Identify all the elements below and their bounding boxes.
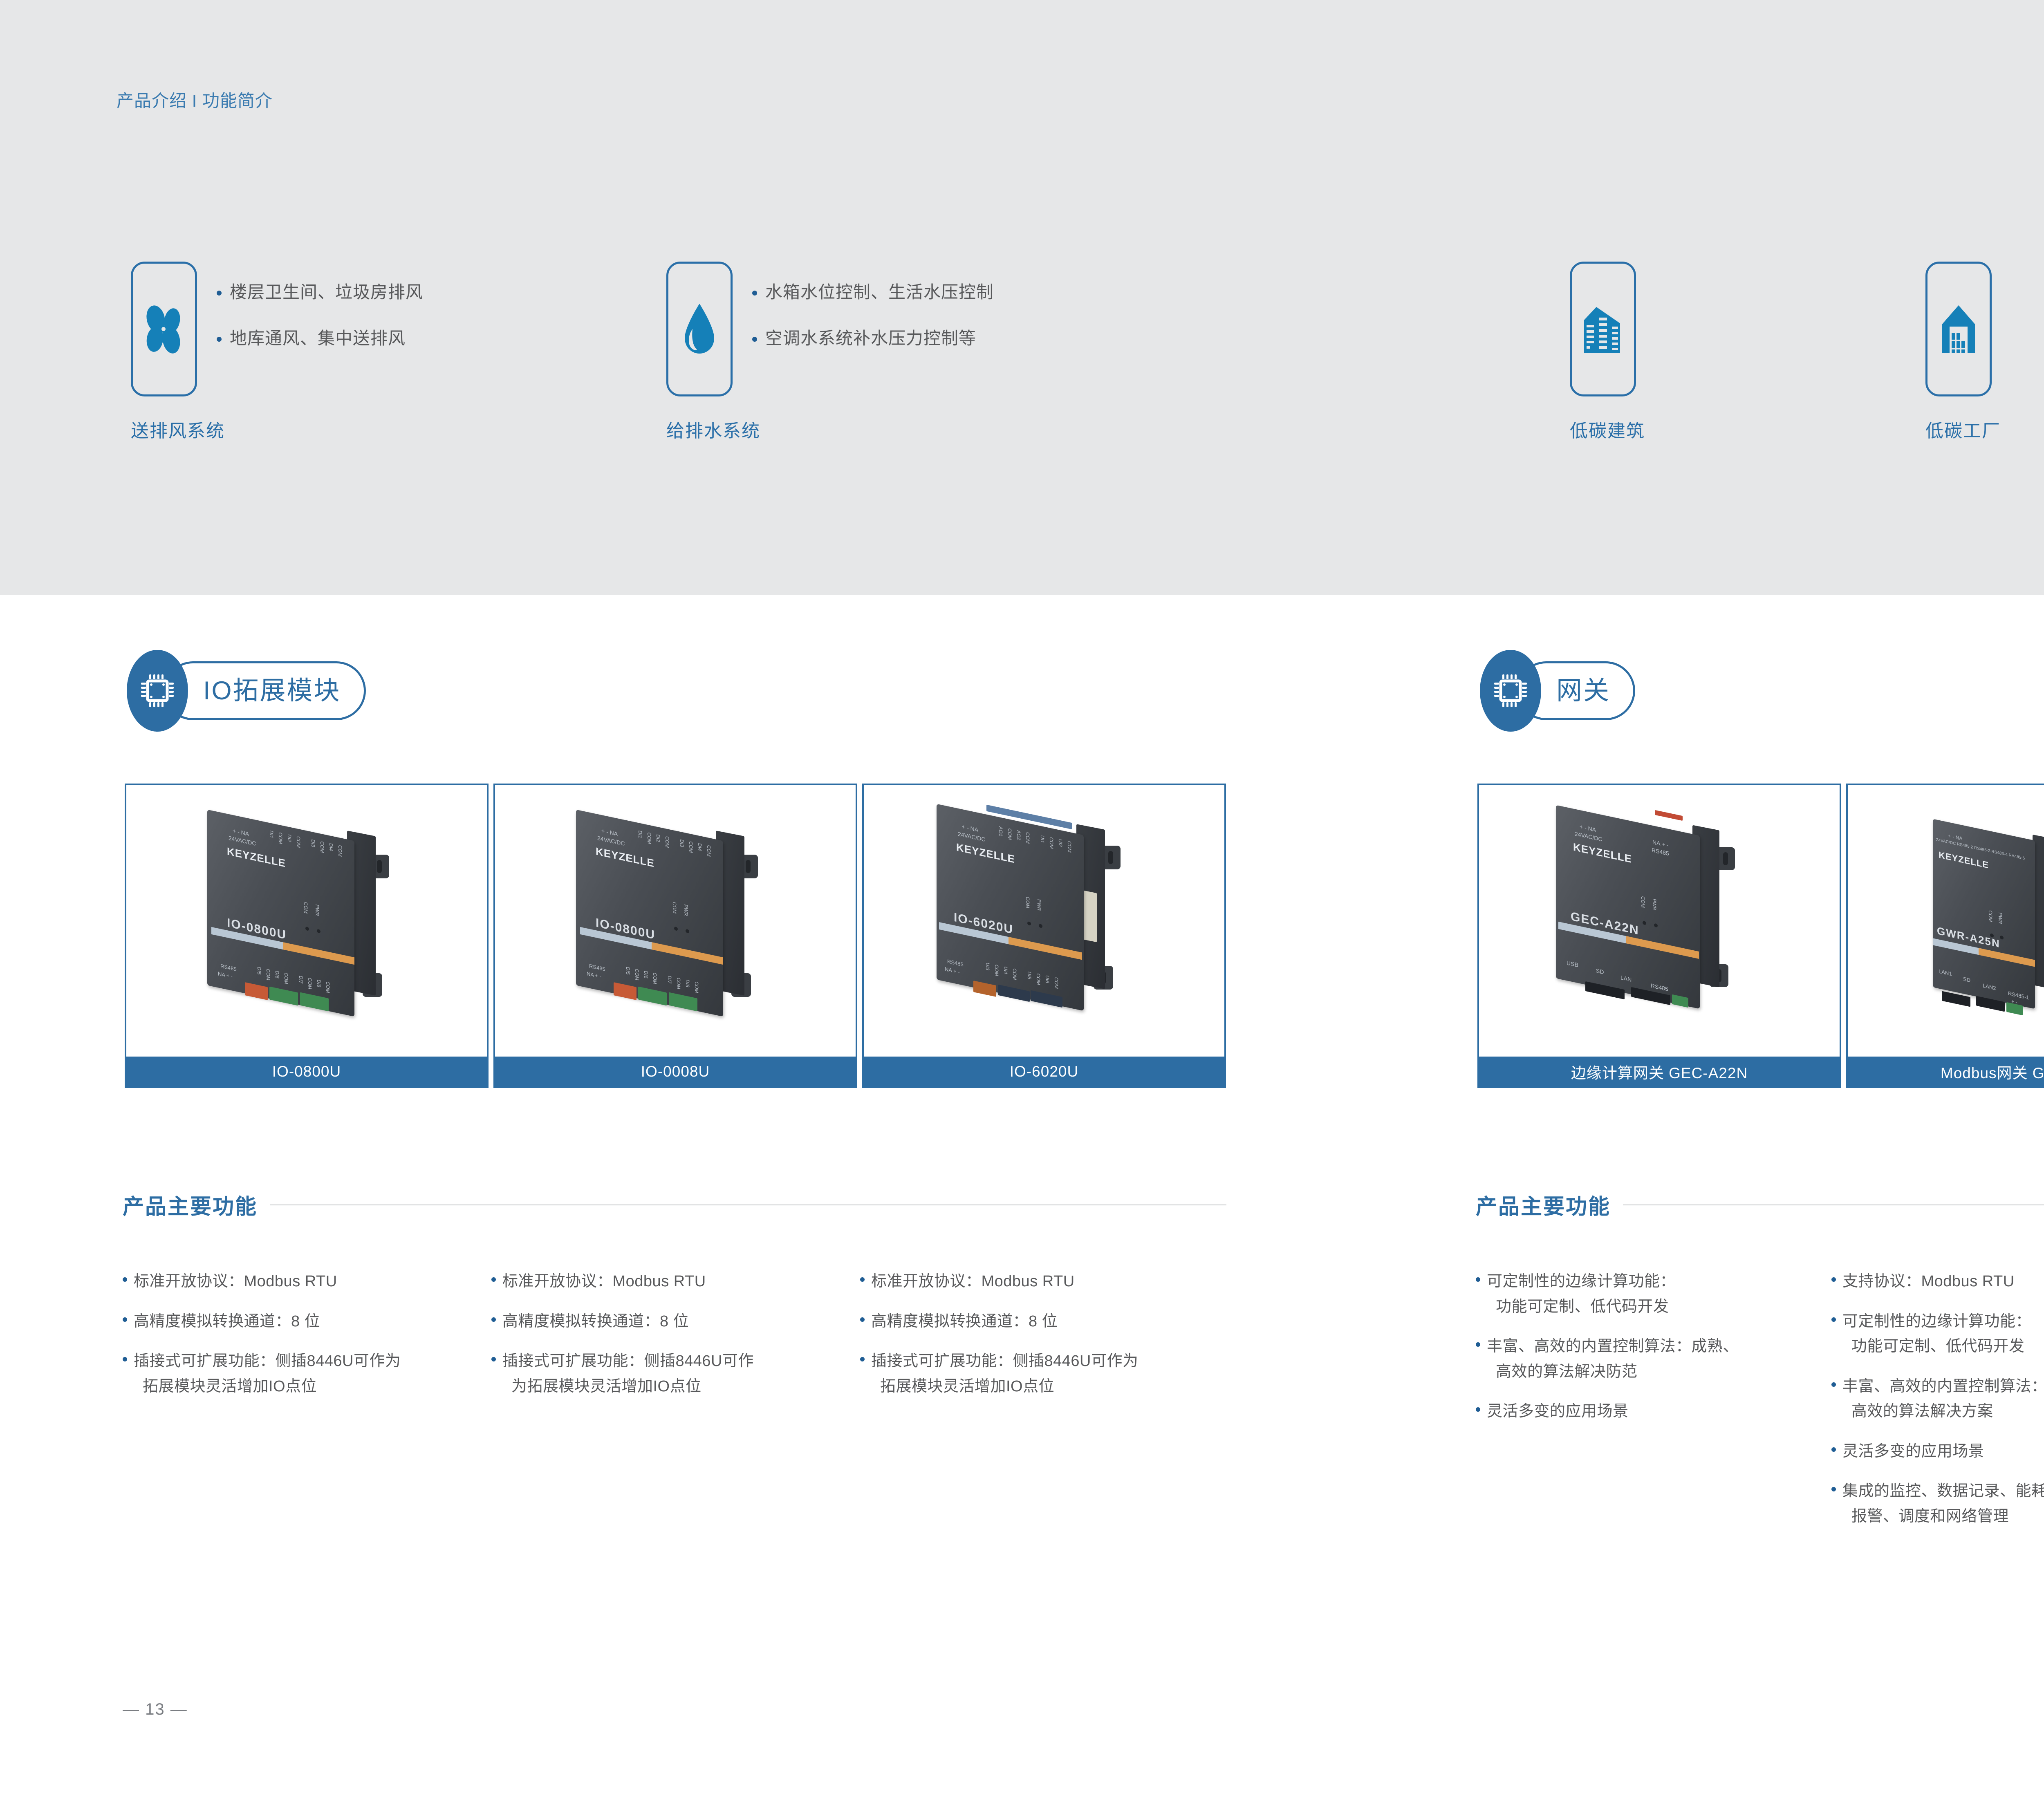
led-indicator	[1643, 921, 1646, 925]
scenario-water-supply: 水箱水位控制、生活水压控制 空调水系统补水压力控制等 给排水系统	[666, 262, 733, 396]
features-column: 支持协议：Modbus RTU 可定制性的边缘计算功能：功能可定制、低代码开发 …	[1831, 1269, 2044, 1544]
list-item: 楼层卫生间、垃圾房排风	[217, 281, 511, 304]
product-label: IO-6020U	[864, 1057, 1224, 1086]
port-label: SD	[1963, 976, 1970, 983]
terminal-label: NA + -	[587, 970, 602, 980]
terminal-label: AO2	[1016, 830, 1022, 841]
bullet-text: 丰富、高效的内置控制算法：成熟、高效的算法解决防范	[1487, 1334, 1739, 1384]
terminal-label: COM	[283, 972, 289, 985]
terminal-label: DI6	[274, 970, 280, 979]
section-title: 网关	[1556, 678, 1610, 704]
list-item: 集成的监控、数据记录、能耗计量、报警、调度和网络管理	[1831, 1479, 2044, 1529]
list-item: 地库通风、集中送排风	[217, 327, 511, 350]
top-terminal-strip	[1655, 810, 1683, 821]
product-image: + - NA 24VAC/DC AO1 COM AO2 COM UI1 COM …	[864, 785, 1224, 1057]
device-photo: + - NA 24VAC/DC DI1 COM DI2 COM DI3 COM …	[565, 814, 781, 1026]
device-front: + - NA 24VAC/DC DI1 COM DI2 COM DI3 COM …	[207, 810, 354, 1017]
bullet-text: 标准开放协议：Modbus RTU	[871, 1269, 1075, 1294]
list-item: 高精度模拟转换通道：8 位	[491, 1309, 851, 1335]
terminal-label: UI6	[1044, 975, 1050, 984]
device-front: + - NA 24VAC/DC RS485-2 RS485-3 RS485-4 …	[1933, 819, 2035, 1009]
port-label: SD	[1596, 967, 1604, 975]
terminal-label: COM	[1035, 973, 1041, 985]
device-front: + - NA 24VAC/DC NA + - RS485 KEYZELLE GE…	[1556, 805, 1700, 1009]
terminal-label: COM	[337, 844, 343, 857]
list-item: 丰富、高效的内置控制算法：成熟、高效的算法解决防范	[1476, 1334, 1827, 1384]
device-photo: + - NA 24VAC/DC NA + - RS485 KEYZELLE GE…	[1544, 810, 1773, 1030]
list-item: 可定制性的边缘计算功能：功能可定制、低代码开发	[1476, 1269, 1827, 1319]
list-item: 支持协议：Modbus RTU	[1831, 1269, 2044, 1294]
terminal-label: COM	[1025, 832, 1031, 844]
bullet-text: 高精度模拟转换通道：8 位	[502, 1309, 689, 1335]
bullet-dot-icon	[123, 1317, 127, 1322]
list-item: 灵活多变的应用场景	[1831, 1439, 2044, 1464]
brand-logo: KEYZELLE	[596, 845, 654, 870]
scenario-ventilation: 楼层卫生间、垃圾房排风 地库通风、集中送排风 送排风系统	[131, 262, 197, 396]
led-label: COM	[1988, 910, 1993, 923]
features-column: 可定制性的边缘计算功能：功能可定制、低代码开发 丰富、高效的内置控制算法：成熟、…	[1476, 1269, 1827, 1439]
bullet-dot-icon	[1831, 1382, 1836, 1387]
terminal-label: COM	[994, 964, 1000, 976]
product-card[interactable]: + - NA 24VAC/DC DI1 COM DI2 COM DI3 COM …	[125, 784, 489, 1088]
list-item: 标准开放协议：Modbus RTU	[123, 1269, 482, 1294]
accent-stripe-orange	[652, 942, 723, 965]
office-buildings-icon	[1581, 304, 1625, 354]
led-indicator	[674, 927, 678, 931]
features-heading-gateway: 产品主要功能	[1476, 1189, 2044, 1220]
product-image: + - NA 24VAC/DC NA + - RS485 KEYZELLE GE…	[1479, 785, 1840, 1057]
scenario-icon-box	[131, 262, 197, 396]
port-label: LAN1	[1939, 968, 1952, 977]
bullet-text: 插接式可扩展功能：侧插8446U可作为拓展模块灵活增加IO点位	[871, 1349, 1138, 1399]
product-label: IO-0800U	[126, 1057, 487, 1086]
terminal-label: DI3	[679, 839, 685, 848]
led-label: PWR	[1036, 899, 1042, 911]
scenario-icon-box	[1570, 262, 1636, 396]
bullet-dot-icon	[491, 1357, 496, 1361]
features-title: 产品主要功能	[123, 1189, 258, 1220]
bullet-dot-icon	[1831, 1277, 1836, 1282]
accent-stripe-orange	[283, 942, 354, 965]
led-indicator	[1027, 921, 1031, 926]
bullet-text: 标准开放协议：Modbus RTU	[134, 1269, 337, 1294]
terminal-label: 24VAC/DC	[597, 835, 625, 847]
terminal-label: COM	[646, 832, 652, 844]
terminal-label: COM	[319, 841, 325, 853]
terminal-label: DI8	[685, 979, 690, 988]
bullet-text: 空调水系统补水压力控制等	[765, 327, 976, 350]
terminal-label: COM	[634, 968, 640, 981]
terminal-label: COM	[664, 836, 670, 849]
bullet-dot-icon	[752, 337, 757, 342]
bullet-dot-icon	[860, 1317, 865, 1322]
badge-ellipse	[127, 650, 188, 732]
terminal-label: COM	[652, 972, 658, 985]
heading-rule	[270, 1205, 1226, 1205]
terminal-label: COM	[1012, 968, 1018, 981]
scenario-caption: 低碳工厂	[1925, 416, 1992, 442]
scenario-bullet-list: 水箱水位控制、生活水压控制 空调水系统补水压力控制等	[752, 281, 1047, 373]
bullet-text: 高精度模拟转换通道：8 位	[134, 1309, 320, 1335]
features-column: 标准开放协议：Modbus RTU 高精度模拟转换通道：8 位 插接式可扩展功能…	[123, 1269, 482, 1414]
bullet-text: 地库通风、集中送排风	[230, 327, 406, 350]
terminal-label: COM	[296, 836, 301, 849]
led-label: PWR	[314, 904, 320, 916]
list-item: 插接式可扩展功能：侧插8446U可作为拓展模块灵活增加IO点位	[123, 1349, 482, 1399]
list-item: 水箱水位控制、生活水压控制	[752, 281, 1047, 304]
led-label: COM	[303, 901, 309, 914]
accent-stripe-orange	[1626, 936, 1699, 959]
scenario-caption: 低碳建筑	[1570, 416, 1636, 442]
terminal-label: DI4	[328, 843, 334, 852]
bullet-dot-icon	[860, 1357, 865, 1361]
bullet-dot-icon	[491, 1277, 496, 1282]
terminal-label: DI7	[667, 975, 672, 984]
badge-ellipse	[1480, 650, 1541, 732]
bullet-dot-icon	[1831, 1447, 1836, 1452]
bullet-dot-icon	[1831, 1317, 1836, 1322]
terminal-label: COM	[688, 841, 694, 853]
scenario-caption: 送排风系统	[131, 416, 225, 442]
device-photo: + - NA 24VAC/DC AO1 COM AO2 COM UI1 COM …	[925, 810, 1154, 1030]
bullet-text: 插接式可扩展功能：侧插8446U可作为拓展模块灵活增加IO点位	[134, 1349, 401, 1399]
terminal-label: DI7	[298, 975, 304, 984]
bullet-dot-icon	[123, 1277, 127, 1282]
brand-logo: KEYZELLE	[1573, 841, 1632, 866]
product-label: IO-0008U	[495, 1057, 856, 1086]
bullet-text: 灵活多变的应用场景	[1487, 1399, 1629, 1424]
running-header-left: 产品介绍 I 功能简介	[117, 87, 273, 112]
list-item: 灵活多变的应用场景	[1476, 1399, 1827, 1424]
list-item: 高精度模拟转换通道：8 位	[860, 1309, 1228, 1335]
terminal-label: AO1	[998, 826, 1004, 837]
terminal-label: COM	[676, 977, 681, 990]
bullet-dot-icon	[860, 1277, 865, 1282]
product-image: + - NA 24VAC/DC RS485-2 RS485-3 RS485-4 …	[1848, 785, 2044, 1057]
product-card[interactable]: + - NA 24VAC/DC RS485-2 RS485-3 RS485-4 …	[1846, 784, 2044, 1088]
bullet-text: 水箱水位控制、生活水压控制	[765, 281, 994, 304]
water-drop-icon	[679, 301, 720, 357]
terminal-label: COM	[307, 977, 313, 990]
terminal-label: DI2	[287, 834, 292, 843]
terminal-label: NA + -	[945, 966, 960, 975]
badge-pill: IO拓展模块	[164, 661, 366, 720]
product-card[interactable]: + - NA 24VAC/DC AO1 COM AO2 COM UI1 COM …	[862, 784, 1226, 1088]
terminal-label: DI5	[256, 966, 262, 975]
terminal-label: 24VAC/DC	[1575, 830, 1602, 842]
bullet-text: 集成的监控、数据记录、能耗计量、报警、调度和网络管理	[1842, 1479, 2044, 1529]
features-title: 产品主要功能	[1476, 1189, 1611, 1220]
list-item: 标准开放协议：Modbus RTU	[860, 1269, 1228, 1294]
led-label: COM	[672, 901, 677, 914]
product-card[interactable]: + - NA 24VAC/DC NA + - RS485 KEYZELLE GE…	[1477, 784, 1841, 1088]
port-label: RS485	[1651, 982, 1668, 992]
product-image: + - NA 24VAC/DC DI1 COM DI2 COM DI3 COM …	[126, 785, 487, 1057]
brand-logo: KEYZELLE	[227, 845, 286, 870]
list-item: 标准开放协议：Modbus RTU	[491, 1269, 851, 1294]
terminal-label: 24VAC/DC	[229, 835, 256, 847]
led-indicator	[1654, 923, 1658, 928]
bullet-dot-icon	[1831, 1487, 1836, 1491]
heading-rule	[1623, 1205, 2044, 1205]
bullet-text: 灵活多变的应用场景	[1842, 1439, 1984, 1464]
led-label: COM	[1640, 896, 1646, 908]
terminal-label: UI3	[985, 962, 991, 971]
terminal-label: UI5	[1026, 971, 1032, 980]
section-title: IO拓展模块	[203, 678, 341, 704]
device-photo: + - NA 24VAC/DC RS485-2 RS485-3 RS485-4 …	[1925, 812, 2044, 1028]
bullet-text: 丰富、高效的内置控制算法：成熟、高效的算法解决方案	[1842, 1374, 2044, 1424]
bullet-dot-icon	[217, 337, 222, 342]
terminal-label: UI1	[1040, 835, 1045, 844]
terminal-label: UI2	[1058, 839, 1063, 848]
accent-stripe-orange	[1009, 937, 1082, 960]
features-heading-io: 产品主要功能	[123, 1189, 1226, 1220]
product-label: Modbus网关 GWR-A25N	[1848, 1057, 2044, 1086]
led-indicator	[305, 927, 309, 931]
terminal-label: DI4	[697, 843, 703, 852]
bullet-dot-icon	[752, 291, 757, 296]
page-number-left: — 13 —	[123, 1700, 188, 1719]
bullet-text: 标准开放协议：Modbus RTU	[502, 1269, 706, 1294]
scenario-icon-box	[666, 262, 733, 396]
bullet-text: 楼层卫生间、垃圾房排风	[230, 281, 423, 304]
list-item: 插接式可扩展功能：侧插8446U可作为拓展模块灵活增加IO点位	[860, 1349, 1228, 1399]
scenario-low-carbon-building: 低碳建筑	[1570, 262, 1636, 396]
features-column: 标准开放协议：Modbus RTU 高精度模拟转换通道：8 位 插接式可扩展功能…	[860, 1269, 1228, 1414]
terminal-label: COM	[1067, 840, 1072, 853]
port-label: LAN	[1620, 974, 1632, 983]
terminal-label: DI1	[637, 830, 643, 839]
led-label: PWR	[1652, 898, 1657, 911]
list-item: 插接式可扩展功能：侧插8446U可作为拓展模块灵活增加IO点位	[491, 1349, 851, 1399]
terminal-label: RS485	[589, 963, 605, 972]
bullet-text: 高精度模拟转换通道：8 位	[871, 1309, 1058, 1335]
led-indicator	[1039, 924, 1042, 928]
terminal-label: RS485	[947, 958, 964, 967]
bullet-dot-icon	[491, 1317, 496, 1322]
product-card[interactable]: + - NA 24VAC/DC DI1 COM DI2 COM DI3 COM …	[493, 784, 857, 1088]
list-item: 丰富、高效的内置控制算法：成熟、高效的算法解决方案	[1831, 1374, 2044, 1424]
bullet-dot-icon	[1476, 1277, 1480, 1282]
accent-stripe-orange	[1979, 948, 2035, 967]
terminal-label: COM	[694, 981, 699, 994]
terminal-label: DI8	[316, 979, 322, 988]
bullet-dot-icon	[123, 1357, 127, 1361]
device-front: + - NA 24VAC/DC DI1 COM DI2 COM DI3 COM …	[576, 810, 723, 1017]
factory-icon	[1938, 304, 1979, 354]
led-label: PWR	[683, 904, 689, 916]
bullet-text: 支持协议：Modbus RTU	[1842, 1269, 2015, 1294]
bullet-text: 可定制性的边缘计算功能：功能可定制、低代码开发	[1842, 1309, 2031, 1359]
bullet-text: 可定制性的边缘计算功能：功能可定制、低代码开发	[1487, 1269, 1676, 1319]
terminal-label: DI3	[310, 839, 316, 848]
chip-icon	[1492, 672, 1529, 710]
terminal-label: COM	[1049, 837, 1054, 849]
terminal-label: COM	[325, 981, 331, 994]
terminal-label: COM	[265, 968, 271, 981]
bullet-dot-icon	[1476, 1342, 1480, 1347]
terminal-label: COM	[278, 832, 283, 844]
led-label: COM	[1025, 896, 1031, 909]
terminal-label: COM	[1053, 977, 1059, 990]
terminal-label: DI5	[625, 966, 631, 975]
scenario-bullet-list: 楼层卫生间、垃圾房排风 地库通风、集中送排风	[217, 281, 511, 373]
device-photo: + - NA 24VAC/DC DI1 COM DI2 COM DI3 COM …	[196, 814, 412, 1026]
port-label: LAN2	[1983, 982, 1996, 991]
features-column: 标准开放协议：Modbus RTU 高精度模拟转换通道：8 位 插接式可扩展功能…	[491, 1269, 851, 1414]
led-label: PWR	[1997, 912, 2003, 925]
terminal-label: RS485	[220, 963, 237, 972]
led-indicator	[317, 929, 320, 934]
scenario-caption: 给排水系统	[666, 416, 760, 442]
bullet-text: 插接式可扩展功能：侧插8446U可作为拓展模块灵活增加IO点位	[502, 1349, 754, 1399]
terminal-label: DI2	[655, 834, 661, 843]
scenario-low-carbon-factory: 低碳工厂	[1925, 262, 1992, 396]
fan-icon	[141, 302, 187, 356]
terminal-label: DI1	[269, 830, 274, 839]
list-item: 可定制性的边缘计算功能：功能可定制、低代码开发	[1831, 1309, 2044, 1359]
port-label: USB	[1567, 959, 1578, 968]
led-indicator	[2000, 935, 2004, 940]
terminal-label: COM	[1007, 828, 1013, 840]
terminal-label: 24VAC/DC	[958, 831, 985, 843]
bullet-dot-icon	[1476, 1407, 1480, 1412]
terminal-label: DI6	[643, 970, 649, 979]
brand-logo: KEYZELLE	[956, 841, 1015, 866]
list-item: 空调水系统补水压力控制等	[752, 327, 1047, 350]
device-front: + - NA 24VAC/DC AO1 COM AO2 COM UI1 COM …	[937, 804, 1084, 1011]
scenario-icon-box	[1925, 262, 1992, 396]
product-label: 边缘计算网关 GEC-A22N	[1479, 1057, 1840, 1086]
product-image: + - NA 24VAC/DC DI1 COM DI2 COM DI3 COM …	[495, 785, 856, 1057]
terminal-label: COM	[706, 844, 712, 857]
chip-icon	[139, 672, 176, 710]
terminal-label: NA + -	[218, 970, 233, 980]
brand-logo: KEYZELLE	[1939, 849, 1989, 871]
terminal-label: UI4	[1003, 966, 1009, 975]
list-item: 高精度模拟转换通道：8 位	[123, 1309, 482, 1335]
bullet-dot-icon	[217, 291, 222, 296]
led-indicator	[686, 929, 689, 934]
